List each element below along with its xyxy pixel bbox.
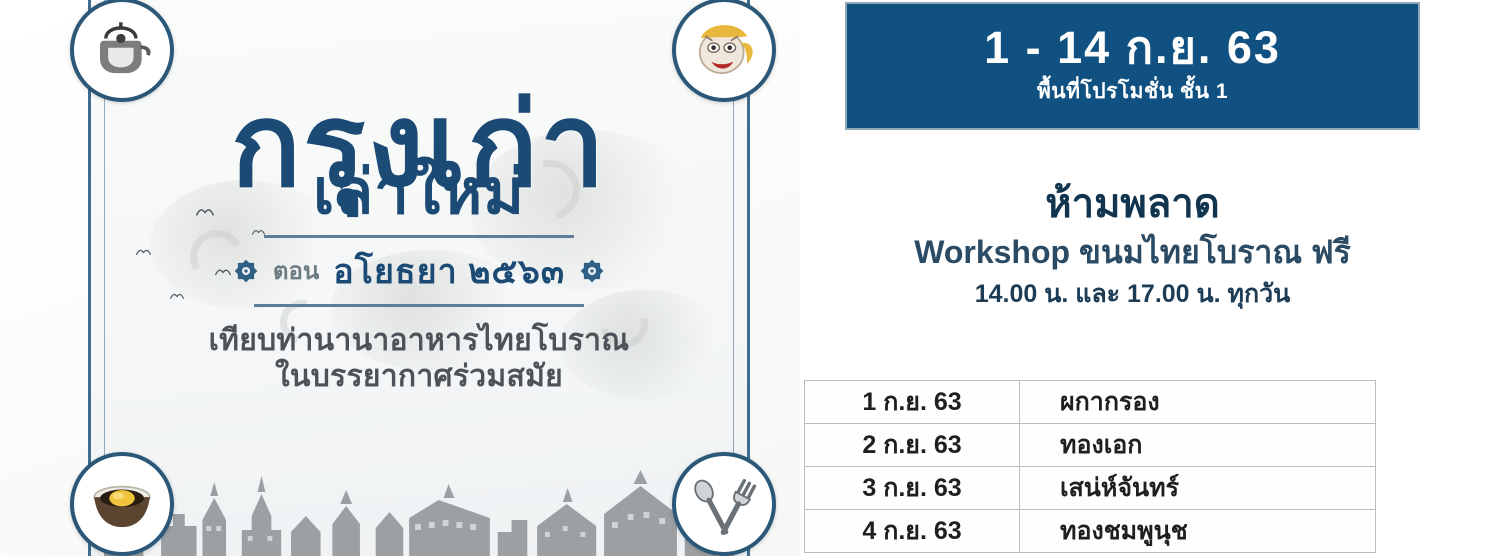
schedule-date: 4 ก.ย. 63	[805, 510, 1020, 553]
kettle-icon	[85, 13, 159, 87]
poster-episode-label: ตอน	[273, 251, 319, 290]
poster-description-line2: ในบรรยากาศร่วมสมัย	[104, 359, 734, 396]
table-row: 4 ก.ย. 63 ทองชมพูนุช	[805, 510, 1376, 553]
poster-episode-value: อโยธยา ๒๕๖๓	[333, 244, 565, 298]
thai-mask-icon	[687, 13, 761, 87]
schedule-body: 1 ก.ย. 63 ผกากรอง 2 ก.ย. 63 ทองเอก 3 ก.ย…	[805, 381, 1376, 553]
promo-banner-screenshot: กรุงเก่า เล่าใหม่ ตอน อโยธยา ๒๕๖๓	[0, 0, 1500, 556]
poster-title-sub: เล่าใหม่	[104, 165, 734, 221]
medallion-spoon-fork	[672, 452, 776, 556]
schedule-item: ทองชมพูนุช	[1020, 510, 1376, 553]
dessert-bowl-icon	[85, 467, 159, 541]
poster-episode-row: ตอน อโยธยา ๒๕๖๓	[104, 244, 734, 298]
headline-primary: ห้ามพลาด	[845, 182, 1420, 226]
medallion-thai-mask	[672, 0, 776, 102]
table-row: 1 ก.ย. 63 ผกากรอง	[805, 381, 1376, 424]
location-text: พื้นที่โปรโมชั่น ชั้น 1	[1037, 75, 1228, 108]
workshop-headline-block: ห้ามพลาด Workshop ขนมไทยโบราณ ฟรี 14.00 …	[845, 182, 1420, 311]
thai-temple-skyline	[104, 464, 734, 556]
poster-description-line1: เทียบท่านานาอาหารไทยโบราณ	[104, 323, 734, 360]
medallion-dessert-bowl	[70, 452, 174, 556]
schedule-date: 1 ก.ย. 63	[805, 381, 1020, 424]
headline-times: 14.00 น. และ 17.00 น. ทุกวัน	[845, 278, 1420, 311]
schedule-date: 3 ก.ย. 63	[805, 467, 1020, 510]
date-range-text: 1 - 14 ก.ย. 63	[984, 24, 1281, 71]
table-row: 3 ก.ย. 63 เสน่ห์จันทร์	[805, 467, 1376, 510]
event-poster: กรุงเก่า เล่าใหม่ ตอน อโยธยา ๒๕๖๓	[0, 0, 800, 556]
schedule-item: เสน่ห์จันทร์	[1020, 467, 1376, 510]
schedule-item: ทองเอก	[1020, 424, 1376, 467]
date-banner: 1 - 14 ก.ย. 63 พื้นที่โปรโมชั่น ชั้น 1	[845, 2, 1420, 130]
floral-medallion-icon	[233, 258, 259, 284]
medallion-kettle	[70, 0, 174, 102]
title-divider-top	[264, 235, 574, 238]
headline-secondary: Workshop ขนมไทยโบราณ ฟรี	[845, 232, 1420, 272]
schedule-date: 2 ก.ย. 63	[805, 424, 1020, 467]
floral-medallion-icon	[579, 258, 605, 284]
workshop-schedule-table: 1 ก.ย. 63 ผกากรอง 2 ก.ย. 63 ทองเอก 3 ก.ย…	[804, 380, 1376, 553]
table-row: 2 ก.ย. 63 ทองเอก	[805, 424, 1376, 467]
info-panel: 1 - 14 ก.ย. 63 พื้นที่โปรโมชั่น ชั้น 1 ห…	[800, 0, 1500, 556]
spoon-fork-icon	[687, 467, 761, 541]
poster-description: เทียบท่านานาอาหารไทยโบราณ ในบรรยากาศร่วม…	[104, 323, 734, 396]
schedule-item: ผกากรอง	[1020, 381, 1376, 424]
title-divider-bottom	[254, 304, 584, 307]
poster-title-block: กรุงเก่า เล่าใหม่ ตอน อโยธยา ๒๕๖๓	[104, 92, 734, 396]
